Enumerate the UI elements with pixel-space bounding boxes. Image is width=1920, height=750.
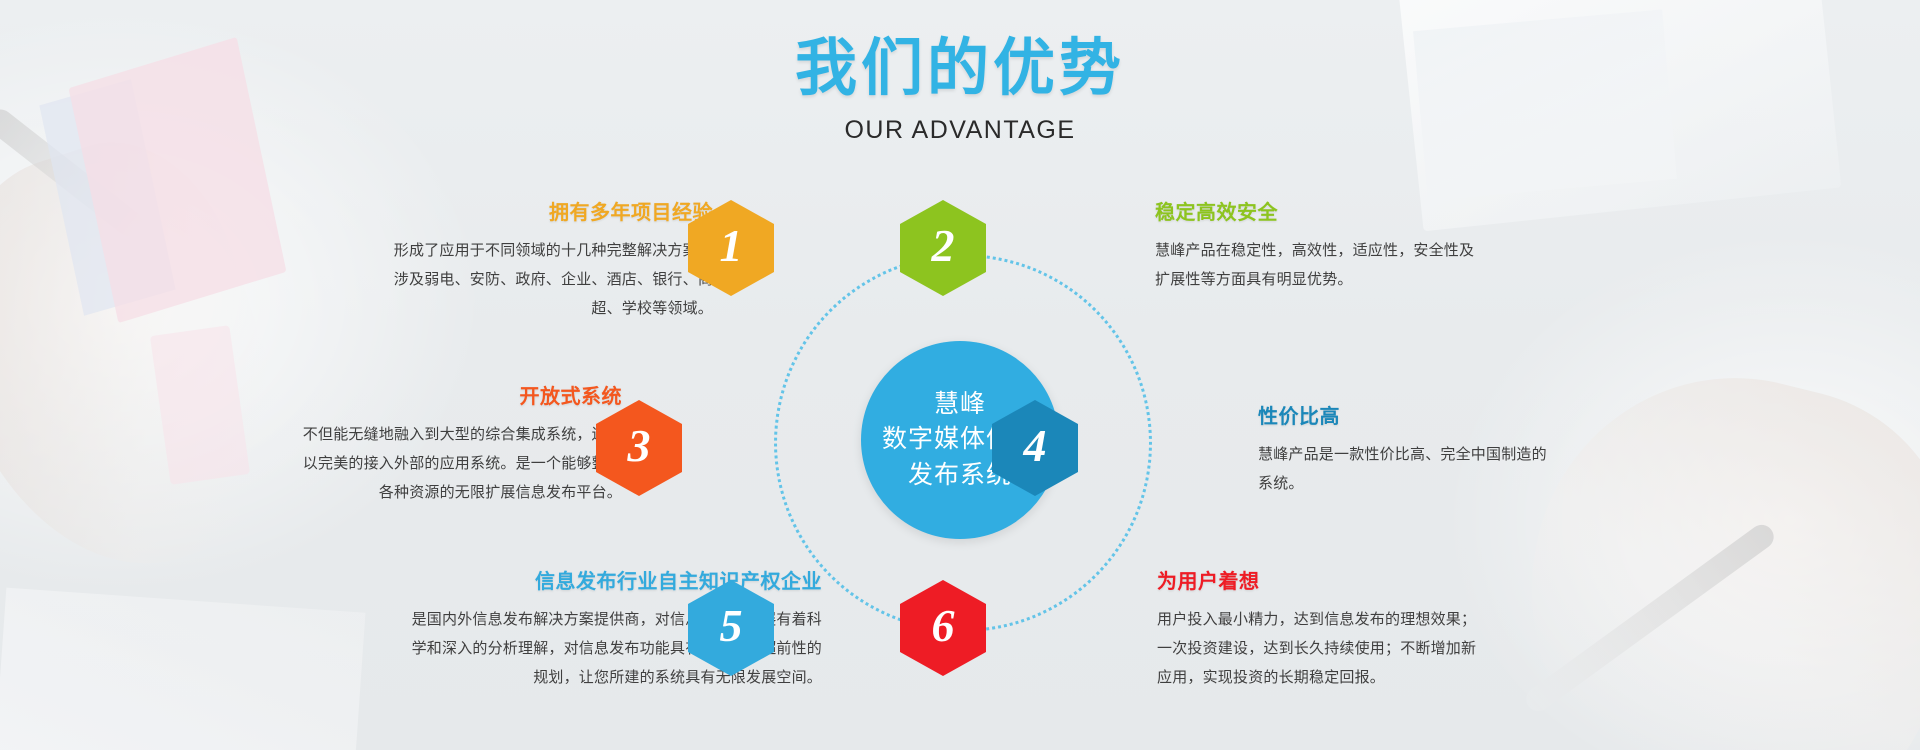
advantage-body-3: 不但能无缝地融入到大型的综合集成系统，还可以完美的接入外部的应用系统。是一个能够… xyxy=(295,421,622,507)
background-note-pink-lower xyxy=(150,325,250,485)
advantage-heading-4: 性价比高 xyxy=(1258,400,1558,429)
background-pen-right xyxy=(1522,520,1779,716)
hex-number-4: 4 xyxy=(1024,423,1047,473)
hex-number-6: 6 xyxy=(932,603,955,653)
advantage-heading-3: 开放式系统 xyxy=(295,380,622,409)
hex-badge-1[interactable]: 1 xyxy=(688,200,774,296)
hex-number-3: 3 xyxy=(628,423,651,473)
hex-number-1: 1 xyxy=(720,223,743,273)
hex-number-5: 5 xyxy=(720,603,743,653)
hex-badge-5[interactable]: 5 xyxy=(688,580,774,676)
background-hand-left xyxy=(0,114,318,606)
advantage-diagram: 慧峰 数字媒体信息 发布系统 1 2 3 4 5 6 xyxy=(700,160,1220,720)
advantage-body-4: 慧峰产品是一款性价比高、完全中国制造的系统。 xyxy=(1258,441,1558,499)
advantage-item-4: 性价比高 慧峰产品是一款性价比高、完全中国制造的系统。 xyxy=(1258,400,1558,499)
advantage-item-1: 拥有多年项目经验 形成了应用于不同领域的十几种完整解决方案。涉及弱电、安防、政府… xyxy=(386,196,713,323)
background-hand-right xyxy=(1484,336,1920,750)
advantage-infographic: 我们的优势 OUR ADVANTAGE 拥有多年项目经验 形成了应用于不同领域的… xyxy=(0,0,1920,750)
background-board-bottom-left xyxy=(0,588,365,750)
advantage-body-1: 形成了应用于不同领域的十几种完整解决方案。涉及弱电、安防、政府、企业、酒店、银行… xyxy=(386,237,713,323)
hex-number-2: 2 xyxy=(932,223,955,273)
advantage-item-3: 开放式系统 不但能无缝地融入到大型的综合集成系统，还可以完美的接入外部的应用系统… xyxy=(295,380,622,507)
advantage-heading-1: 拥有多年项目经验 xyxy=(386,196,713,225)
page-title: 我们的优势 xyxy=(0,38,1920,100)
page-subtitle: OUR ADVANTAGE xyxy=(0,116,1920,145)
center-line-1: 慧峰 xyxy=(934,387,986,423)
page-header: 我们的优势 OUR ADVANTAGE xyxy=(0,38,1920,145)
